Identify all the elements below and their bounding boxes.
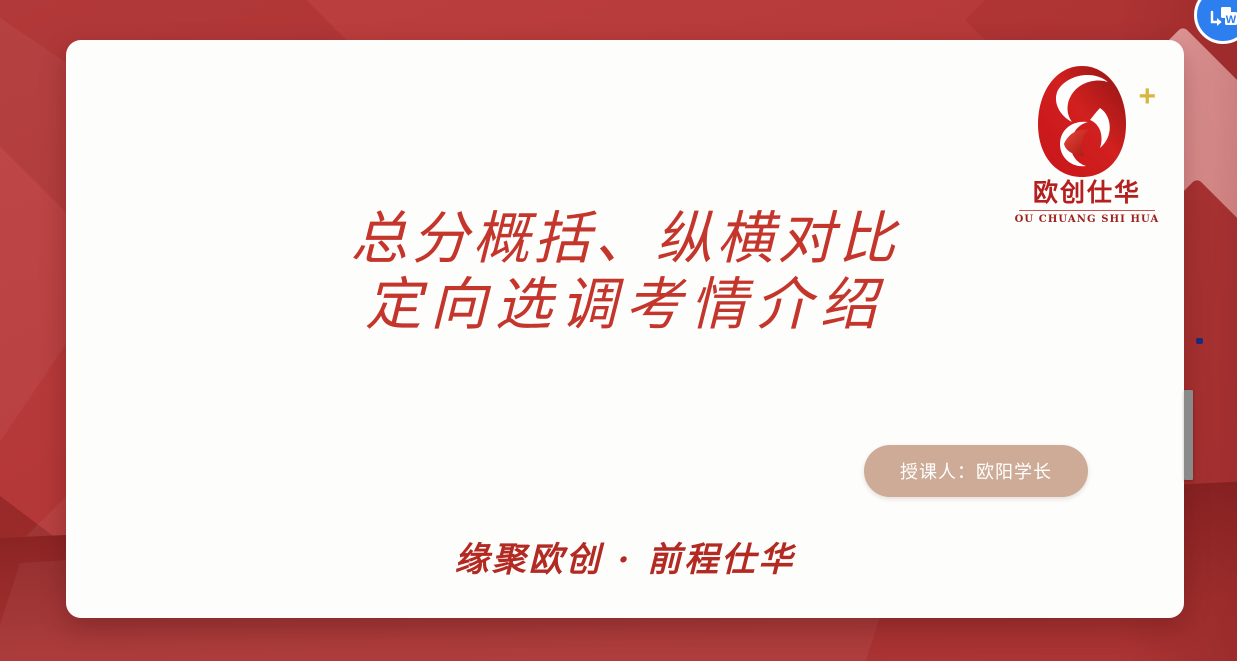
instructor-badge: 授课人：欧阳学长: [864, 445, 1088, 497]
presentation-slide-viewer: + 欧创仕华 OU CHUANG SHI HUA 总分概括、纵横对比 定向选调考…: [0, 0, 1237, 661]
slide-title: 总分概括、纵横对比 定向选调考情介绍: [66, 206, 1184, 338]
vertical-scrollbar-thumb[interactable]: [1184, 390, 1193, 480]
logo-name-cn: 欧创仕华: [1012, 180, 1162, 206]
pointer-dot-icon: [1196, 338, 1203, 344]
slide-card: + 欧创仕华 OU CHUANG SHI HUA 总分概括、纵横对比 定向选调考…: [66, 40, 1184, 618]
slide-title-line-2: 定向选调考情介绍: [66, 272, 1184, 338]
save-to-word-icon: W: [1208, 6, 1237, 32]
svg-text:W: W: [1226, 14, 1237, 26]
slide-title-line-1: 总分概括、纵横对比: [66, 206, 1184, 272]
brand-logo: + 欧创仕华 OU CHUANG SHI HUA: [1012, 64, 1162, 225]
logo-plus-icon: +: [1138, 82, 1156, 112]
ou-chuang-shi-hua-emblem-icon: [1038, 64, 1126, 179]
brand-slogan: 缘聚欧创 · 前程仕华: [66, 532, 1184, 581]
logo-mark-wrapper: +: [1012, 64, 1162, 182]
